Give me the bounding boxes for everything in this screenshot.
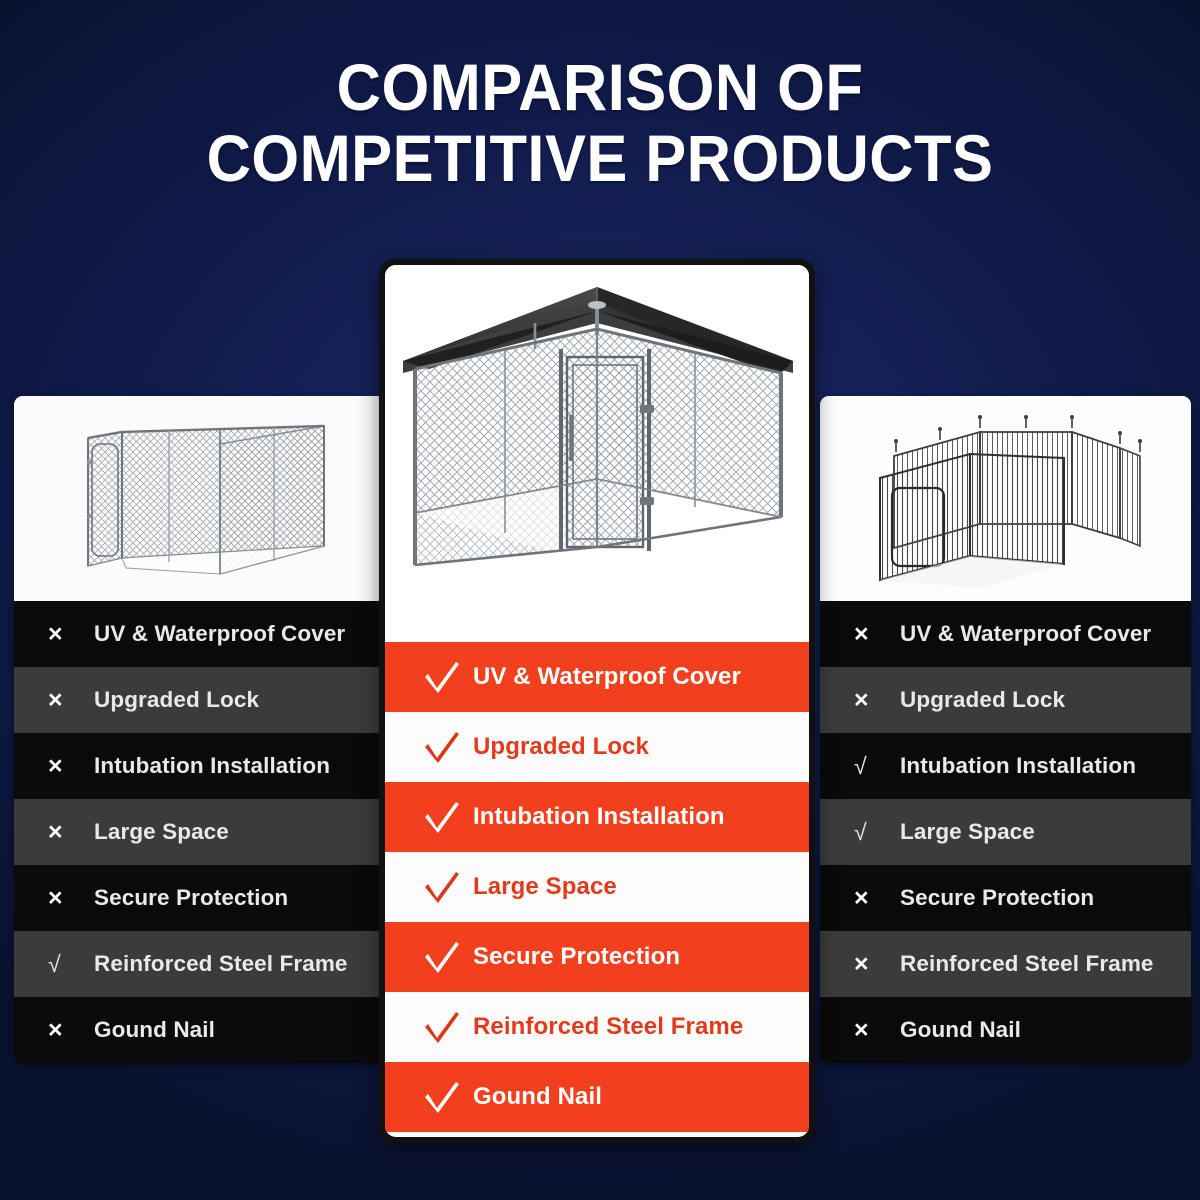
- check-icon: [423, 870, 473, 904]
- feature-row-center-1: UV & Waterproof Cover: [385, 642, 809, 712]
- feature-label: Large Space: [900, 819, 1035, 845]
- feature-label: Gound Nail: [473, 1083, 602, 1111]
- check-icon: [423, 1080, 461, 1114]
- cross-icon: ×: [48, 1018, 94, 1043]
- feature-label: Intubation Installation: [94, 753, 330, 779]
- feature-label: Intubation Installation: [900, 753, 1136, 779]
- cross-icon: ×: [854, 622, 900, 647]
- check-icon: [423, 1010, 473, 1044]
- feature-label: Large Space: [94, 819, 229, 845]
- feature-label: Upgraded Lock: [900, 687, 1065, 713]
- cross-icon: ×: [854, 886, 900, 911]
- check-icon: [423, 800, 461, 834]
- feature-row-right-2: ×Upgraded Lock: [820, 667, 1191, 733]
- feature-row-center-3: Intubation Installation: [385, 782, 809, 852]
- cross-icon: ×: [854, 952, 900, 977]
- feature-label: Reinforced Steel Frame: [473, 1013, 743, 1041]
- cross-icon: ×: [48, 754, 94, 779]
- title-line-1: COMPARISON OF: [42, 52, 1158, 123]
- feature-label: Reinforced Steel Frame: [94, 951, 348, 977]
- feature-label: UV & Waterproof Cover: [94, 621, 345, 647]
- feature-label: Large Space: [473, 873, 617, 901]
- feature-row-right-6: ×Reinforced Steel Frame: [820, 931, 1191, 997]
- product-photo-left: [14, 396, 385, 601]
- feature-label: Reinforced Steel Frame: [900, 951, 1154, 977]
- feature-row-left-5: ×Secure Protection: [14, 865, 385, 931]
- check-icon: [423, 730, 473, 764]
- comparison-infographic: COMPARISON OF COMPETITIVE PRODUCTS: [0, 0, 1200, 1200]
- cross-icon: ×: [854, 688, 900, 713]
- kennel-no-cover-icon: [14, 396, 385, 601]
- feature-rows-center: UV & Waterproof CoverUpgraded LockIntuba…: [385, 642, 809, 1137]
- feature-label: Upgraded Lock: [473, 733, 649, 761]
- check-icon: [423, 730, 461, 764]
- feature-rows-right: ×UV & Waterproof Cover×Upgraded Lock√Int…: [820, 601, 1191, 1063]
- feature-row-right-3: √Intubation Installation: [820, 733, 1191, 799]
- title-line-2: COMPETITIVE PRODUCTS: [42, 123, 1158, 194]
- check-icon: √: [48, 953, 94, 976]
- check-icon: [423, 1010, 461, 1044]
- feature-row-center-2: Upgraded Lock: [385, 712, 809, 782]
- feature-label: Upgraded Lock: [94, 687, 259, 713]
- feature-row-right-7: ×Gound Nail: [820, 997, 1191, 1063]
- feature-label: Intubation Installation: [473, 803, 725, 831]
- product-photo-center: [385, 265, 809, 642]
- cross-icon: ×: [48, 886, 94, 911]
- feature-label: Gound Nail: [900, 1017, 1021, 1043]
- check-icon: [423, 940, 461, 974]
- feature-label: Secure Protection: [900, 885, 1094, 911]
- cross-icon: ×: [48, 622, 94, 647]
- feature-row-right-5: ×Secure Protection: [820, 865, 1191, 931]
- feature-row-right-4: √Large Space: [820, 799, 1191, 865]
- feature-label: Secure Protection: [94, 885, 288, 911]
- feature-row-left-3: ×Intubation Installation: [14, 733, 385, 799]
- check-icon: √: [854, 821, 900, 844]
- page-title: COMPARISON OF COMPETITIVE PRODUCTS: [42, 52, 1158, 195]
- check-icon: √: [854, 755, 900, 778]
- product-photo-right: [820, 396, 1191, 601]
- feature-row-left-6: √Reinforced Steel Frame: [14, 931, 385, 997]
- check-icon: [423, 660, 461, 694]
- check-icon: [423, 870, 461, 904]
- feature-rows-left: ×UV & Waterproof Cover×Upgraded Lock×Int…: [14, 601, 385, 1063]
- feature-row-center-5: Secure Protection: [385, 922, 809, 992]
- competitor-card-left: ×UV & Waterproof Cover×Upgraded Lock×Int…: [14, 396, 385, 1063]
- check-icon: [423, 1080, 473, 1114]
- metal-playpen-icon: [820, 396, 1191, 601]
- feature-row-left-7: ×Gound Nail: [14, 997, 385, 1063]
- cross-icon: ×: [854, 1018, 900, 1043]
- cross-icon: ×: [48, 688, 94, 713]
- competitor-card-right: ×UV & Waterproof Cover×Upgraded Lock√Int…: [820, 396, 1191, 1063]
- feature-row-left-2: ×Upgraded Lock: [14, 667, 385, 733]
- feature-label: UV & Waterproof Cover: [900, 621, 1151, 647]
- kennel-with-roof-icon: [385, 265, 809, 642]
- feature-row-center-4: Large Space: [385, 852, 809, 922]
- feature-label: Gound Nail: [94, 1017, 215, 1043]
- feature-row-left-1: ×UV & Waterproof Cover: [14, 601, 385, 667]
- feature-row-center-6: Reinforced Steel Frame: [385, 992, 809, 1062]
- check-icon: [423, 800, 473, 834]
- feature-label: Secure Protection: [473, 943, 680, 971]
- check-icon: [423, 940, 473, 974]
- feature-row-right-1: ×UV & Waterproof Cover: [820, 601, 1191, 667]
- featured-product-card: UV & Waterproof CoverUpgraded LockIntuba…: [379, 259, 815, 1143]
- feature-label: UV & Waterproof Cover: [473, 663, 741, 691]
- feature-row-left-4: ×Large Space: [14, 799, 385, 865]
- check-icon: [423, 660, 473, 694]
- feature-row-center-7: Gound Nail: [385, 1062, 809, 1132]
- cross-icon: ×: [48, 820, 94, 845]
